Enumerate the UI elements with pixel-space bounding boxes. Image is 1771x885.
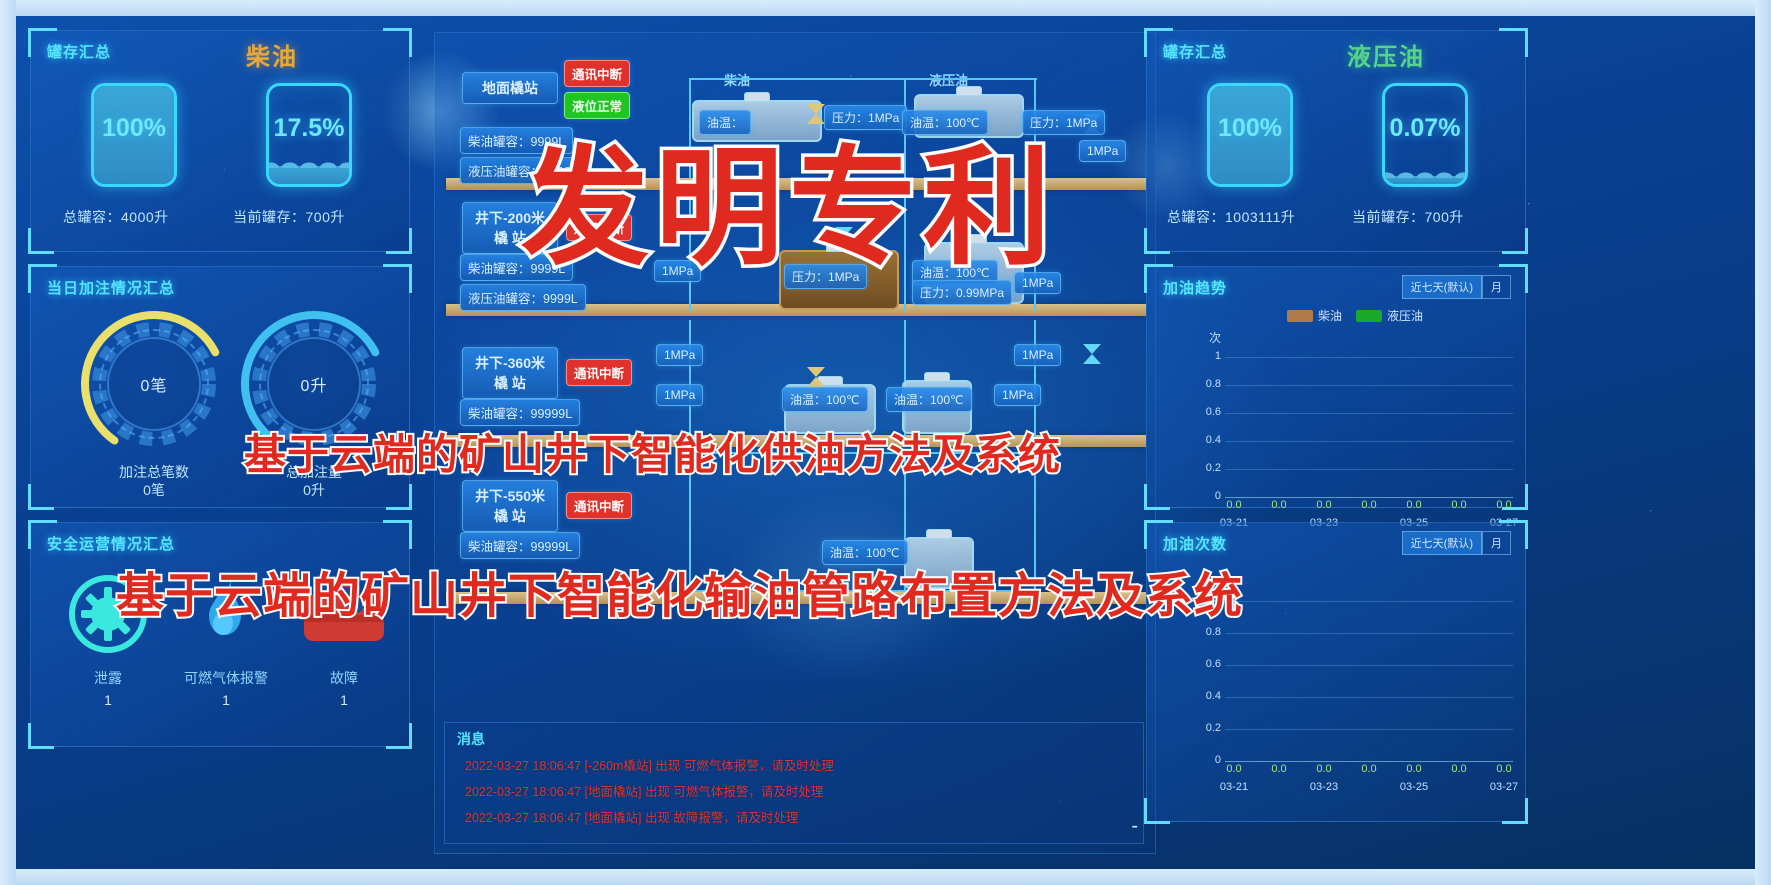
- legend-item-hydraulic[interactable]: 液压油: [1356, 307, 1423, 324]
- chart-x-axis: [1225, 497, 1513, 498]
- y-tick: 0.4: [1195, 690, 1221, 702]
- station-badge-comm-fail: 通讯中断: [566, 359, 632, 386]
- readout-oil-temp: 油温：100℃: [886, 387, 972, 412]
- panel-accent-title: 柴油: [246, 37, 298, 72]
- panel-title: 罐存汇总: [1163, 41, 1227, 62]
- tank-percent: 0.07%: [1385, 114, 1465, 143]
- safety-item-value: 1: [161, 692, 291, 708]
- x-tick: 03-25: [1394, 781, 1434, 793]
- panel-title: 加油趋势: [1163, 277, 1227, 298]
- tank-percent: 100%: [94, 114, 174, 143]
- station-badge-comm-fail: 通讯中断: [564, 60, 630, 87]
- safety-item-label: 泄露: [43, 668, 173, 688]
- gauge-left-caption-line2: 0笔: [74, 481, 234, 499]
- range-buttons-count[interactable]: 近七天(默认) 月: [1402, 531, 1511, 555]
- range-button-seven-days[interactable]: 近七天(默认): [1402, 275, 1482, 299]
- panel-diesel-tank-summary: 罐存汇总 柴油 100% 17.5% 总罐容：4000升 当前罐存：700升: [30, 30, 410, 252]
- frame-right-bar: [1755, 0, 1771, 885]
- data-label: 0.0: [1311, 763, 1337, 775]
- tank-total-hydraulic: 100%: [1207, 83, 1293, 187]
- safety-item-label: 故障: [279, 668, 409, 688]
- station-badge-comm-fail: 通讯中断: [566, 492, 632, 519]
- panel-title: 安全运营情况汇总: [47, 533, 175, 554]
- safety-item-value: 1: [43, 692, 173, 708]
- data-label: 0.0: [1356, 499, 1382, 511]
- y-tick: 0.8: [1195, 378, 1221, 390]
- station-label-360m[interactable]: 井下-360米 橇 站: [462, 347, 558, 399]
- range-buttons-trend[interactable]: 近七天(默认) 月: [1402, 275, 1511, 299]
- data-label: 0.0: [1221, 763, 1247, 775]
- y-tick: 0.6: [1195, 406, 1221, 418]
- tank-current-diesel: 17.5%: [266, 83, 352, 187]
- total-capacity-label: 总罐容：4000升: [63, 207, 169, 227]
- x-tick: 03-23: [1304, 781, 1344, 793]
- x-tick: 03-27: [1484, 781, 1524, 793]
- readout-pressure: 1MPa: [1014, 344, 1061, 366]
- y-tick: 0: [1195, 490, 1221, 502]
- x-tick: 03-21: [1214, 781, 1254, 793]
- gauge-refuel-count: 0笔: [79, 309, 229, 459]
- current-stock-label: 当前罐存：700升: [1352, 207, 1464, 227]
- panel-title: 加油次数: [1163, 533, 1227, 554]
- message-log-line: 2022-03-27 18:06:47 [地面橇站] 出现 可燃气体报警，请及时…: [465, 781, 823, 800]
- y-tick: 0.6: [1195, 658, 1221, 670]
- data-label: 0.0: [1446, 499, 1472, 511]
- legend-label-hydraulic: 液压油: [1387, 307, 1423, 324]
- chart-legend-trend: 柴油 液压油: [1287, 307, 1423, 324]
- data-label: 0.0: [1221, 499, 1247, 511]
- tank-current-hydraulic: 0.07%: [1382, 83, 1468, 187]
- panel-title: 当日加注情况汇总: [47, 277, 175, 298]
- tank-percent: 17.5%: [269, 114, 349, 143]
- gauge-left-caption-line1: 加注总笔数: [74, 463, 234, 481]
- gauge-left-caption: 加注总笔数 0笔: [74, 463, 234, 499]
- y-tick: 0.2: [1195, 722, 1221, 734]
- legend-swatch-diesel: [1287, 310, 1313, 322]
- station-label-550m[interactable]: 井下-550米 橇 站: [462, 480, 558, 532]
- frame-bottom-bar: [0, 869, 1771, 885]
- station-tank-diesel-capacity: 柴油罐容：99999L: [460, 532, 580, 559]
- chart-y-unit: 次: [1209, 329, 1221, 346]
- data-label: 0.0: [1491, 499, 1517, 511]
- panel-title: 罐存汇总: [47, 41, 111, 62]
- range-button-month[interactable]: 月: [1482, 531, 1511, 555]
- watermark-line-2: 基于云端的矿山井下智能化输油管路布置方法及系统: [116, 556, 1243, 626]
- message-log-line: 2022-03-27 18:06:47 [-260m橇站] 出现 可燃气体报警，…: [465, 755, 834, 774]
- current-stock-label: 当前罐存：700升: [233, 207, 345, 227]
- readout-oil-temp: 油温：100℃: [782, 387, 868, 412]
- message-log-title: 消息: [457, 729, 485, 749]
- data-label: 0.0: [1266, 763, 1292, 775]
- frame-top-bar: [0, 0, 1771, 16]
- range-button-month[interactable]: 月: [1482, 275, 1511, 299]
- data-label: 0.0: [1311, 499, 1337, 511]
- panel-refuel-trend-chart: 加油趋势 近七天(默认) 月 柴油 液压油 次: [1146, 266, 1526, 508]
- watermark-line-1: 基于云端的矿山井下智能化供油方法及系统: [244, 421, 1061, 482]
- data-label: 0.0: [1446, 763, 1472, 775]
- data-label: 0.0: [1266, 499, 1292, 511]
- readout-pressure: 1MPa: [656, 384, 703, 406]
- range-button-seven-days[interactable]: 近七天(默认): [1402, 531, 1482, 555]
- panel-hydraulic-tank-summary: 罐存汇总 液压油 100% 0.07% 总罐容：1003111升 当前罐存：70…: [1146, 30, 1526, 252]
- data-label: 0.0: [1401, 763, 1427, 775]
- tank-total-diesel: 100%: [91, 83, 177, 187]
- y-tick: 1: [1195, 350, 1221, 362]
- scada-screen: 罐存汇总 柴油 100% 17.5% 总罐容：4000升 当前罐存：700升 当…: [16, 16, 1755, 869]
- pipe-horizontal: [689, 78, 1037, 80]
- frame-left-bar: [0, 0, 16, 885]
- watermark-patent-title: 发明专利: [521, 104, 1057, 289]
- readout-pressure: 1MPa: [1079, 140, 1126, 162]
- y-tick: 0: [1195, 754, 1221, 766]
- safety-item-label: 可燃气体报警: [161, 668, 291, 688]
- legend-swatch-hydraulic: [1356, 310, 1382, 322]
- chart-x-axis: [1225, 761, 1513, 762]
- gauge-value: 0笔: [79, 309, 229, 459]
- data-label: 0.0: [1491, 763, 1517, 775]
- total-capacity-label: 总罐容：1003111升: [1167, 207, 1295, 227]
- y-tick: 0.8: [1195, 626, 1221, 638]
- legend-label-diesel: 柴油: [1318, 307, 1342, 324]
- readout-pressure: 1MPa: [656, 344, 703, 366]
- readout-pressure: 1MPa: [994, 384, 1041, 406]
- legend-item-diesel[interactable]: 柴油: [1287, 307, 1342, 324]
- tank-percent: 100%: [1210, 114, 1290, 143]
- message-log[interactable]: 消息 2022-03-27 18:06:47 [-260m橇站] 出现 可燃气体…: [444, 722, 1144, 844]
- station-label-ground[interactable]: 地面橇站: [462, 72, 558, 104]
- data-label: 0.0: [1401, 499, 1427, 511]
- dashboard-root: 罐存汇总 柴油 100% 17.5% 总罐容：4000升 当前罐存：700升 当…: [0, 0, 1771, 885]
- data-label: 0.0: [1356, 763, 1382, 775]
- safety-item-value: 1: [279, 692, 409, 708]
- gauge-right-caption-line2: 0升: [234, 481, 394, 499]
- zoom-out-button[interactable]: -: [1131, 815, 1138, 838]
- panel-accent-title: 液压油: [1347, 37, 1425, 72]
- y-tick: 0.4: [1195, 434, 1221, 446]
- y-tick: 0.2: [1195, 462, 1221, 474]
- message-log-line: 2022-03-27 18:06:47 [地面橇站] 出现 故障报警，请及时处理: [465, 807, 798, 826]
